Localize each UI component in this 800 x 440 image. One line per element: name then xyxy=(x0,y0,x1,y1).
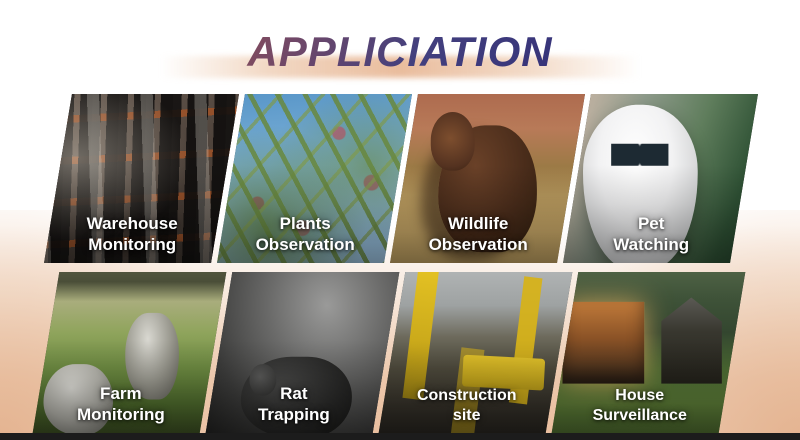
flowering-plant-image xyxy=(217,94,412,263)
tile-wildlife-observation[interactable]: Wildlife Observation xyxy=(390,94,585,263)
application-section: APPLICIATION Warehouse Monitoring Plants… xyxy=(0,0,800,440)
yellow-crane-image xyxy=(379,272,573,433)
tile-house-surveillance[interactable]: House Surveillance xyxy=(552,272,746,433)
tile-row-top: Warehouse Monitoring Plants Observation … xyxy=(0,94,800,263)
bottom-edge-strip xyxy=(0,433,800,440)
tile-warehouse-monitoring[interactable]: Warehouse Monitoring xyxy=(44,94,239,263)
white-kitten-image xyxy=(563,94,758,263)
tile-pet-watching[interactable]: Pet Watching xyxy=(563,94,758,263)
night-vision-rats-image xyxy=(206,272,400,433)
page-title: APPLICIATION xyxy=(0,31,800,73)
tile-rat-trapping[interactable]: Rat Trapping xyxy=(206,272,400,433)
lit-house-lawn-image xyxy=(552,272,746,433)
tile-construction-site[interactable]: Construction site xyxy=(379,272,573,433)
brown-fox-image xyxy=(390,94,585,263)
tile-row-bottom: Farm Monitoring Rat Trapping Constructio… xyxy=(0,272,800,433)
sheep-on-hillside-image xyxy=(33,272,227,433)
warehouse-racking-image xyxy=(44,94,239,263)
tile-farm-monitoring[interactable]: Farm Monitoring xyxy=(33,272,227,433)
tile-plants-observation[interactable]: Plants Observation xyxy=(217,94,412,263)
